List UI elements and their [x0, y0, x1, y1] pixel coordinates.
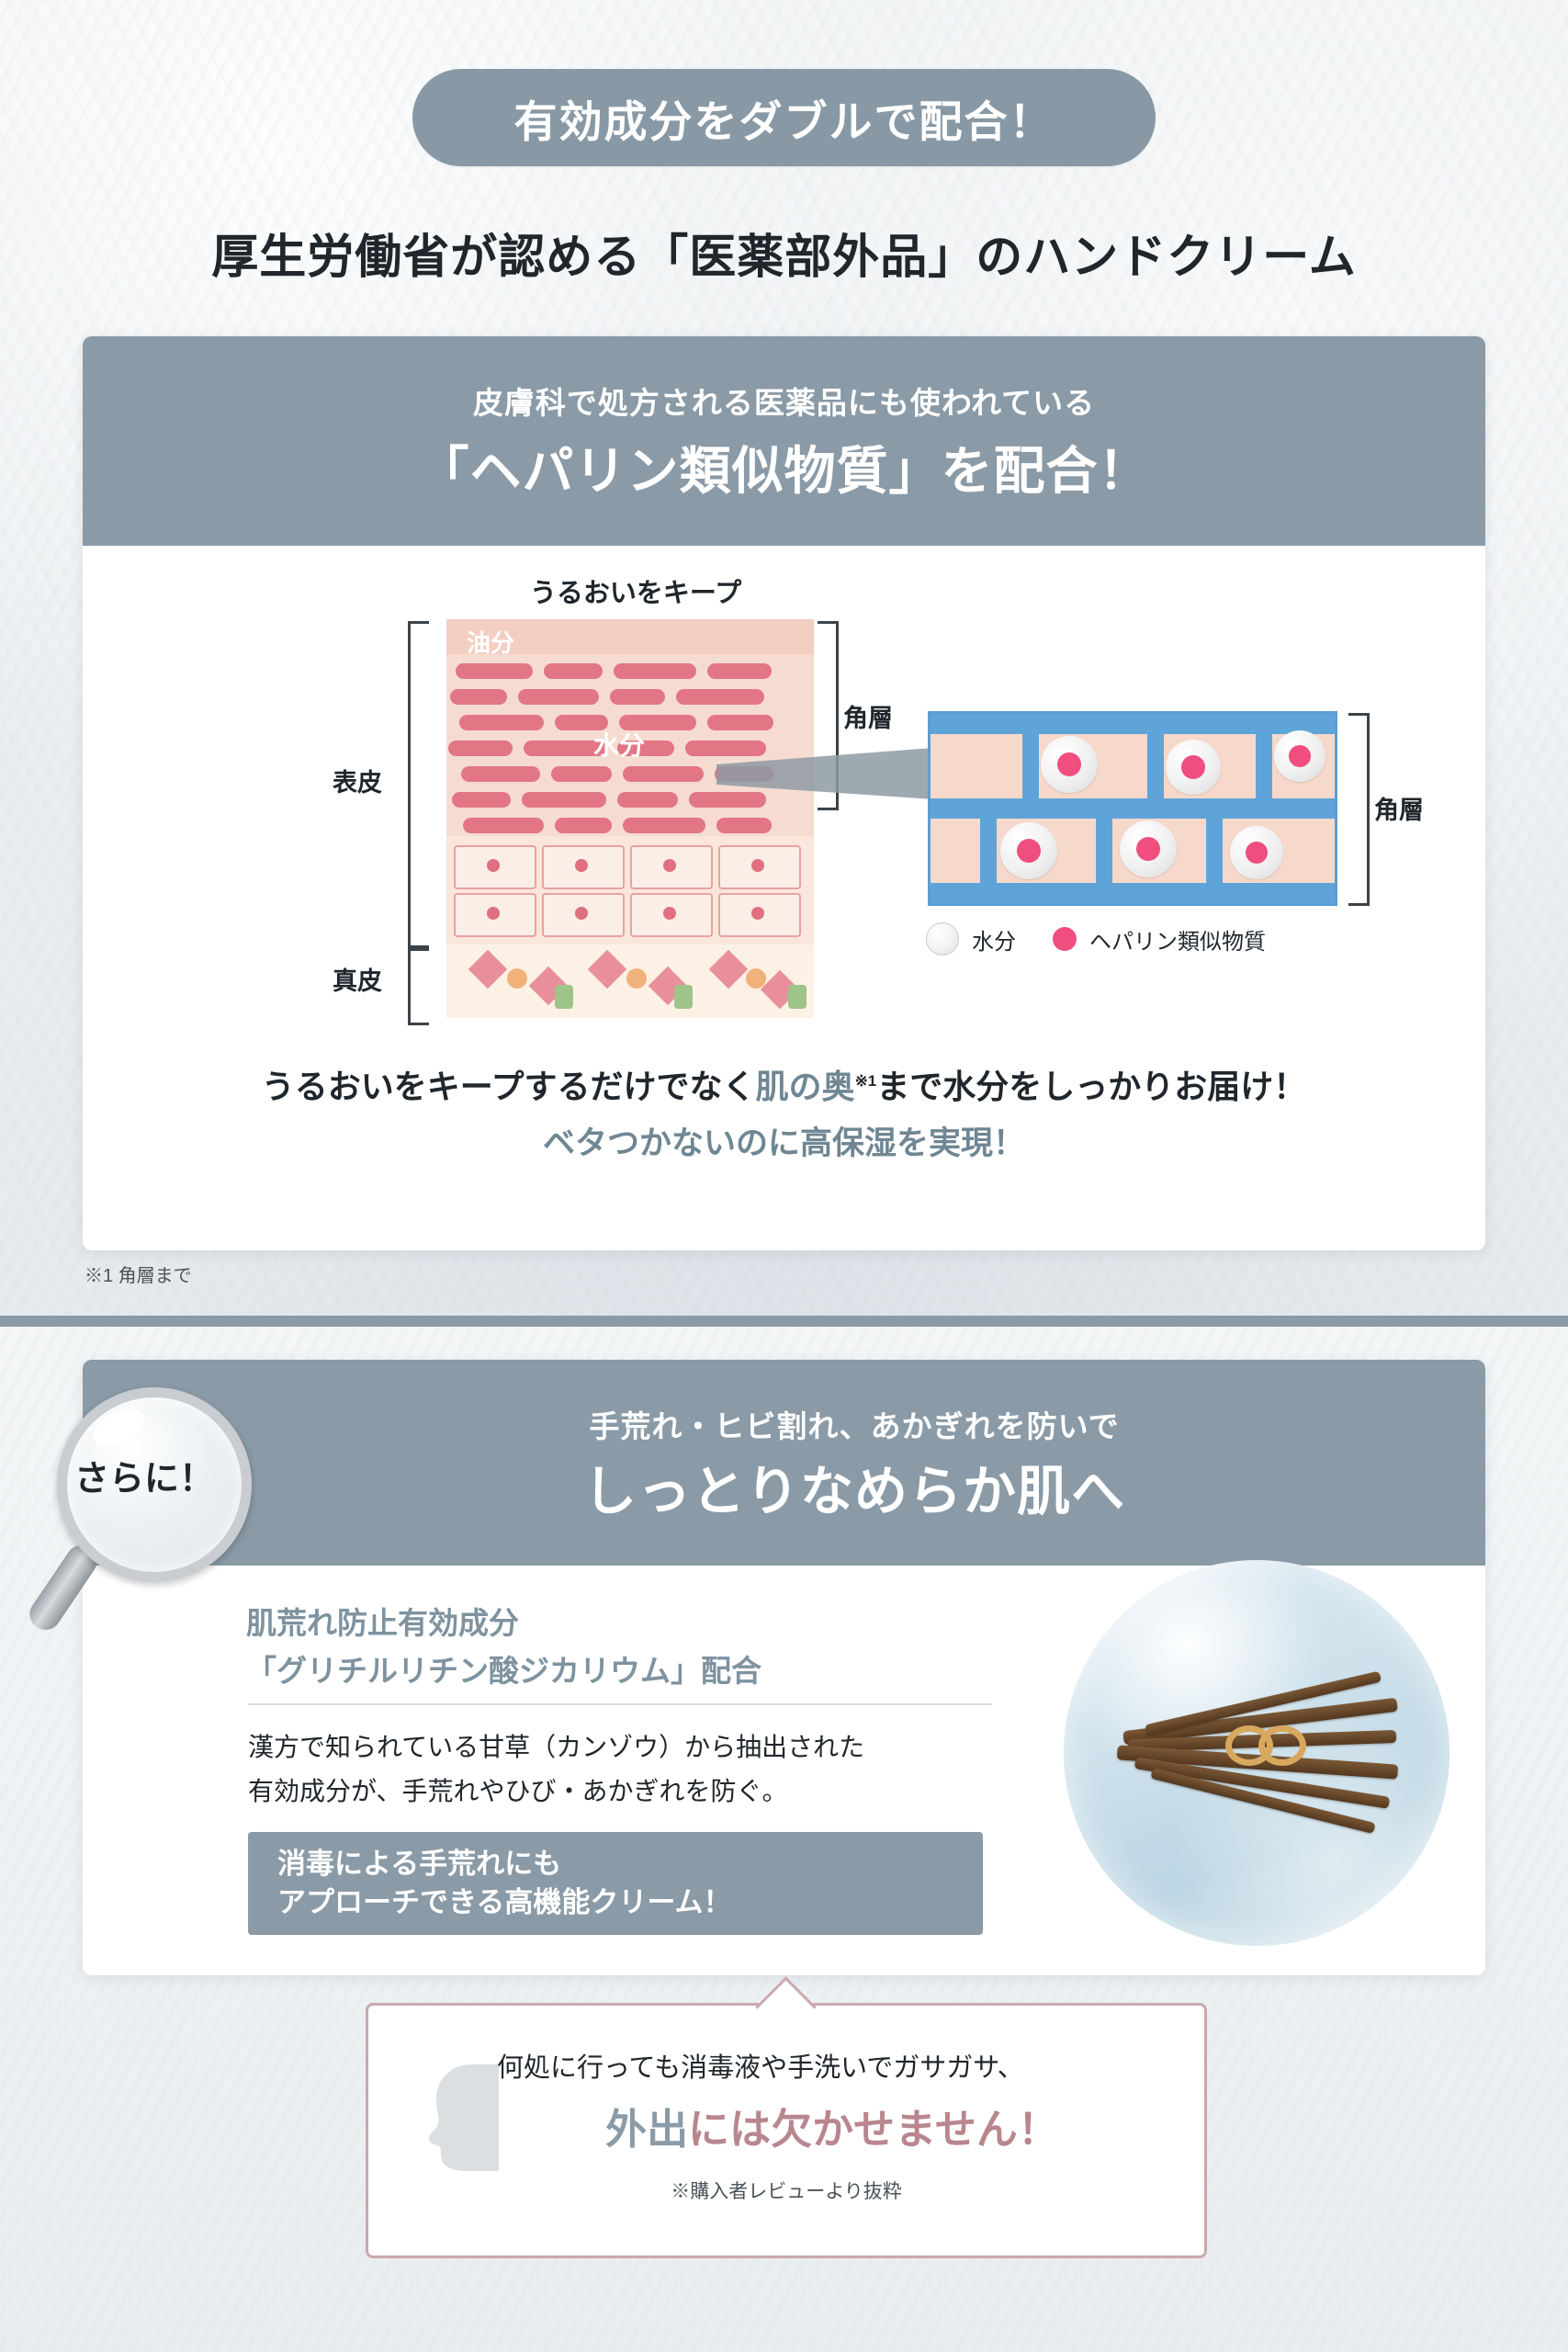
- smooth-skin-title: しっとりなめらか肌へ: [340, 1448, 1369, 1525]
- customer-review-box: 何処に行っても消毒液や手洗いでガサガサ、 外出には欠かせません！ ※購入者レビュ…: [366, 2003, 1207, 2258]
- ingredient-desc-line2: 有効成分が、手荒れやひび・あかぎれを防ぐ。: [248, 1771, 787, 1808]
- page-title: 厚生労働省が認める「医薬部外品」のハンドクリーム: [0, 219, 1568, 287]
- ingredient-divider: [248, 1703, 992, 1705]
- smooth-skin-subline: 手荒れ・ヒビ割れ、あかぎれを防いで: [340, 1402, 1369, 1446]
- skin-diagram: うるおいをキープ: [83, 546, 1485, 1042]
- label-dermis: 真皮: [333, 961, 382, 997]
- callout-line1: 消毒による手荒れにも: [277, 1845, 983, 1883]
- heparin-card-footer: うるおいをキープするだけでなく肌の奥※1まで水分をしっかりお届け！ ベタつかない…: [83, 1062, 1485, 1164]
- footer-line-2: ベタつかないのに高保湿を実現！: [83, 1117, 1485, 1164]
- review-highlight: 外出: [605, 2106, 688, 2153]
- ingredient-callout-box: 消毒による手荒れにも アプローチできる高機能クリーム！: [248, 1832, 983, 1935]
- legend-water-swatch-icon: [926, 922, 959, 955]
- skin-epidermis-layer: [446, 836, 814, 944]
- heparin-particle: [1017, 839, 1041, 863]
- callout-line2: アプローチできる高機能クリーム！: [277, 1883, 983, 1922]
- heparin-header-subline: 皮膚科で処方される医薬品にも使われている: [473, 379, 1095, 423]
- badge-label: 有効成分をダブルで配合！: [514, 86, 1055, 150]
- magnifier-icon: さらに！: [17, 1378, 255, 1617]
- section-divider: [0, 1316, 1568, 1327]
- ingredient-title-line2: 「グリチルリチン酸ジカリウム」配合: [246, 1646, 761, 1690]
- skin-dermis-layer: [446, 944, 814, 1018]
- heparin-particle: [1181, 755, 1205, 779]
- label-stratum-left: 角層: [843, 698, 893, 734]
- smooth-skin-card: 手荒れ・ヒビ割れ、あかぎれを防いで しっとりなめらか肌へ 肌荒れ防止有効成分 「…: [83, 1360, 1485, 1975]
- label-oil: 油分: [467, 625, 514, 659]
- ingredient-desc-line1: 漢方で知られている甘草（カンゾウ）から抽出された: [248, 1727, 864, 1764]
- ribbon-icon: [1225, 1722, 1299, 1764]
- page-root: 有効成分をダブルで配合！ 厚生労働省が認める「医薬部外品」のハンドクリーム 皮膚…: [0, 0, 1568, 2352]
- brace-stratum-right: [1348, 713, 1370, 906]
- footer-line-1: うるおいをキープするだけでなく肌の奥※1まで水分をしっかりお届け！: [83, 1062, 1485, 1112]
- heparin-particle: [1289, 745, 1311, 767]
- review-line-1: 何処に行っても消毒液や手洗いでガサガサ、: [497, 2046, 1177, 2085]
- footnote-stratum: ※1 角層まで: [85, 1261, 192, 1287]
- heparin-card: 皮膚科で処方される医薬品にも使われている 「ヘパリン類似物質」を配合！ うるおい…: [83, 336, 1485, 1250]
- legend-heparin-swatch-icon: [1053, 927, 1077, 951]
- diagram-legend: 水分 ヘパリン類似物質: [926, 922, 1266, 955]
- heparin-particle: [1057, 752, 1081, 776]
- zoom-connector: [716, 748, 933, 840]
- footer-sup: ※1: [855, 1072, 877, 1090]
- brace-epidermis: [408, 621, 429, 948]
- label-stratum-right: 角層: [1374, 790, 1424, 826]
- review-line-2: 外出には欠かせません！: [469, 2096, 1195, 2155]
- ingredient-title-line1: 肌荒れ防止有効成分: [246, 1599, 519, 1643]
- heparin-particle: [1246, 842, 1268, 864]
- diagram-title: うるおいをキープ: [479, 571, 792, 610]
- footer-text-b: まで水分をしっかりお届け！: [876, 1068, 1306, 1105]
- legend-heparin-label: ヘパリン類似物質: [1089, 923, 1266, 955]
- smooth-skin-body: 肌荒れ防止有効成分 「グリチルリチン酸ジカリウム」配合 漢方で知られている甘草（…: [83, 1566, 1485, 1975]
- brace-dermis: [408, 948, 429, 1025]
- label-water: 水分: [593, 726, 645, 763]
- stratum-zoom-view: [928, 711, 1337, 906]
- heparin-header-title: 「ヘパリン類似物質」を配合！: [418, 430, 1151, 504]
- footer-text-highlight: 肌の奥: [756, 1068, 855, 1105]
- legend-water-label: 水分: [972, 923, 1016, 955]
- licorice-photo: [1064, 1560, 1450, 1946]
- label-epidermis: 表皮: [333, 763, 382, 798]
- footer-text-a: うるおいをキープするだけでなく: [262, 1068, 756, 1105]
- heparin-card-header: 皮膚科で処方される医薬品にも使われている 「ヘパリン類似物質」を配合！: [83, 336, 1485, 546]
- magnifier-label: さらに！: [57, 1387, 231, 1562]
- review-rest: には欠かせません！: [688, 2106, 1059, 2153]
- heparin-particle: [1136, 837, 1160, 861]
- badge-double-ingredients: 有効成分をダブルで配合！: [412, 69, 1156, 166]
- review-source: ※購入者レビューより抜粋: [368, 2177, 1204, 2204]
